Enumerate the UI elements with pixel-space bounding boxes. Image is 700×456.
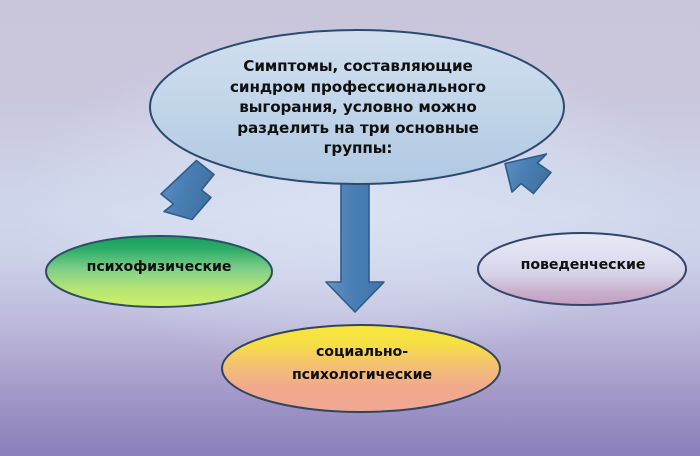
- connector-arrow-left: [161, 161, 214, 220]
- diagram-shapes: [0, 0, 700, 456]
- group-2-ellipse[interactable]: [222, 325, 500, 412]
- group-1-ellipse[interactable]: [46, 236, 272, 307]
- root-ellipse[interactable]: [150, 30, 564, 184]
- connector-arrow-right: [505, 154, 551, 194]
- connector-arrow-center: [326, 172, 384, 312]
- group-3-ellipse[interactable]: [478, 233, 686, 305]
- diagram-canvas: Симптомы, составляющие синдром профессио…: [0, 0, 700, 456]
